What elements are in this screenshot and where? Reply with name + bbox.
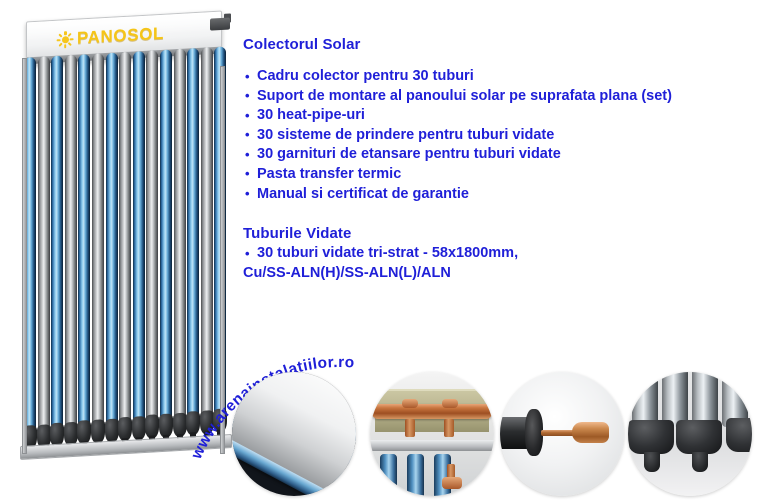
list-item: 30 garnituri de etansare pentru tuburi v… <box>243 145 743 165</box>
vacuum-tube <box>106 53 118 443</box>
tubes-spec-continuation: Cu/SS-ALN(H)/SS-ALN(L)/ALN <box>243 264 743 284</box>
list-item: 30 heat-pipe-uri <box>243 106 743 126</box>
thumbnail-tube-end-caps[interactable] <box>628 372 752 496</box>
solar-collector-photo: PANOSOL <box>14 8 232 468</box>
sun-icon <box>57 30 74 48</box>
vacuum-tube <box>92 53 104 444</box>
mounting-post <box>22 58 27 454</box>
vacuum-tube <box>133 51 145 440</box>
brand-name: PANOSOL <box>77 24 164 49</box>
vacuum-tube <box>78 54 90 445</box>
specification-text: Colectorul Solar Cadru colector pentru 3… <box>243 36 743 283</box>
rail-end-cap <box>210 13 232 36</box>
collector-section: Colectorul Solar Cadru colector pentru 3… <box>243 36 743 204</box>
tubes-spec-list: 30 tuburi vidate tri-strat - 58x1800mm, <box>243 244 743 264</box>
tubes-section: Tuburile Vidate 30 tuburi vidate tri-str… <box>243 225 743 283</box>
list-item: 30 tuburi vidate tri-strat - 58x1800mm, <box>243 244 743 264</box>
vacuum-tube <box>65 55 77 446</box>
list-item: Cadru colector pentru 30 tuburi <box>243 67 743 87</box>
list-item: Pasta transfer termic <box>243 165 743 185</box>
collector-title: Colectorul Solar <box>243 36 743 53</box>
vacuum-tube <box>201 47 213 434</box>
vacuum-tube <box>146 50 158 439</box>
thumbnail-heat-pipe[interactable] <box>500 372 624 496</box>
vacuum-tube <box>160 49 172 438</box>
product-info-page: PANOSOL Colectorul Solar Cadru colector … <box>0 0 760 500</box>
mounting-post <box>220 66 225 454</box>
list-item: Manual si certificat de garantie <box>243 185 743 205</box>
vacuum-tube <box>38 56 50 448</box>
thumbnail-vacuum-tubes-closeup[interactable] <box>232 372 356 496</box>
thumbnail-copper-manifold[interactable] <box>370 372 494 496</box>
vacuum-tube <box>174 49 186 437</box>
tubes-title: Tuburile Vidate <box>243 225 743 242</box>
vacuum-tube <box>119 52 131 442</box>
collector-spec-list: Cadru colector pentru 30 tuburiSuport de… <box>243 67 743 204</box>
vacuum-tube <box>187 48 199 436</box>
vacuum-tube <box>51 56 63 448</box>
list-item: 30 sisteme de prindere pentru tuburi vid… <box>243 126 743 146</box>
vacuum-tube-array <box>24 46 230 466</box>
list-item: Suport de montare al panoului solar pe s… <box>243 87 743 107</box>
